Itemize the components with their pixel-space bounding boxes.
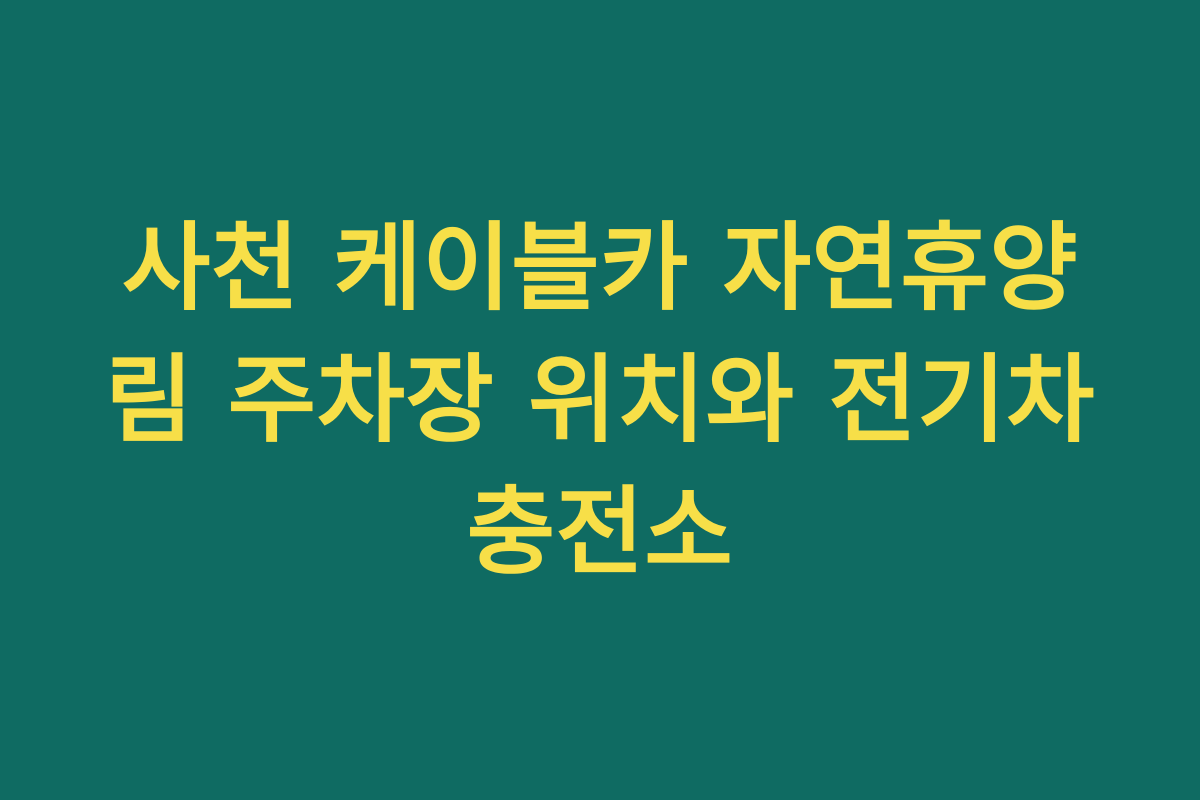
title-line-1: 사천 케이블카 자연휴양: [122, 202, 1078, 334]
page-title: 사천 케이블카 자연휴양 림 주차장 위치와 전기차 충전소: [85, 202, 1115, 598]
title-line-3: 충전소: [467, 466, 733, 598]
title-line-2: 림 주차장 위치와 전기차: [105, 334, 1095, 466]
title-banner: 사천 케이블카 자연휴양 림 주차장 위치와 전기차 충전소: [0, 0, 1200, 800]
